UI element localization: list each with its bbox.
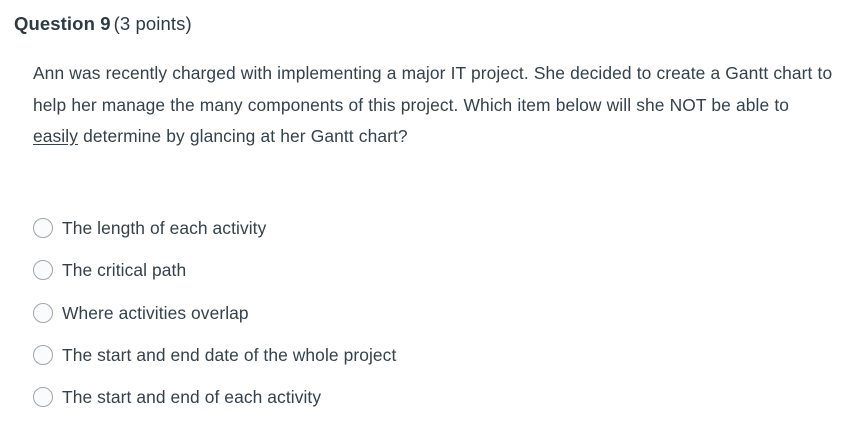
answer-option-label: The length of each activity [62,217,266,239]
answer-option-label: The start and end date of the whole proj… [62,344,396,366]
answer-option-label: Where activities overlap [62,302,249,324]
answer-option-1[interactable]: The length of each activity [33,207,823,249]
question-header: Question 9(3 points) [14,12,192,36]
question-text-part-2: determine by glancing at her Gantt chart… [78,126,408,146]
answer-option-2[interactable]: The critical path [33,249,823,291]
radio-button-icon[interactable] [33,303,53,323]
question-points: (3 points) [114,13,192,34]
radio-button-icon[interactable] [33,260,53,280]
question-text-emphasis: easily [33,126,78,146]
radio-button-icon[interactable] [33,387,53,407]
answer-option-4[interactable]: The start and end date of the whole proj… [33,334,823,376]
question-text: Ann was recently charged with implementi… [33,58,838,153]
answer-option-label: The critical path [62,259,186,281]
radio-button-icon[interactable] [33,345,53,365]
radio-button-icon[interactable] [33,218,53,238]
answer-option-label: The start and end of each activity [62,386,321,408]
quiz-question-container: Question 9(3 points) Ann was recently ch… [0,0,861,436]
question-number: Question 9 [14,13,111,34]
answer-option-5[interactable]: The start and end of each activity [33,376,823,418]
answer-options-list: The length of each activity The critical… [33,207,823,418]
question-text-part-1: Ann was recently charged with implementi… [33,63,832,115]
answer-option-3[interactable]: Where activities overlap [33,292,823,334]
